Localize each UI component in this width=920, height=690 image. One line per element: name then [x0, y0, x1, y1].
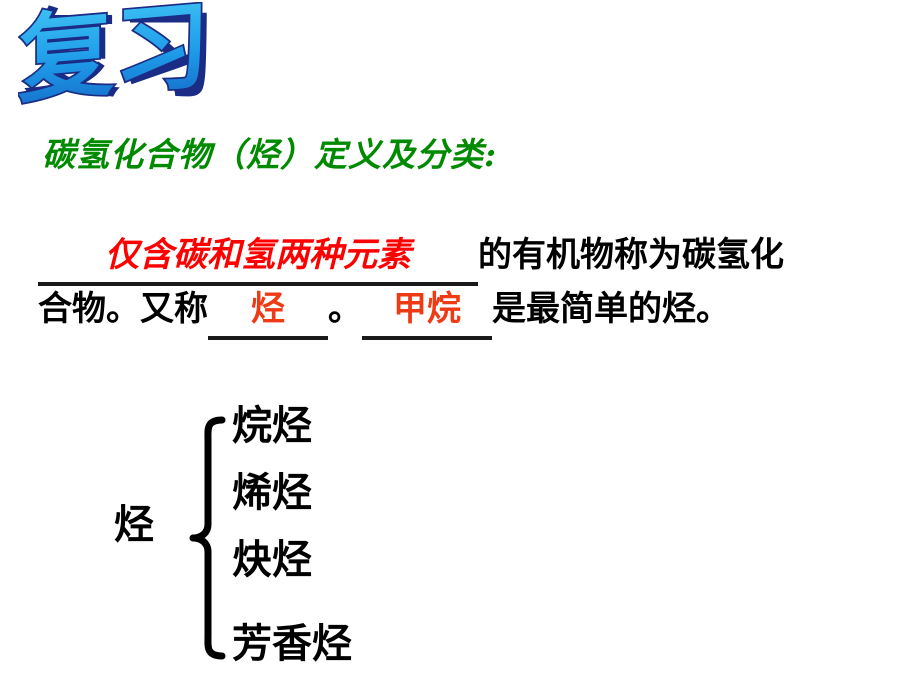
blank-answer-methane[interactable]: 甲烷: [362, 282, 492, 340]
definition-line-2: 合物。又称烃。甲烷是最简单的烃。: [38, 282, 914, 336]
wordart-svg: 复习 复习: [18, 2, 238, 110]
wordart-main-layer: 复习: [18, 2, 210, 110]
definition-line2-middle: 。: [328, 289, 362, 329]
blank-answer-alias-ting[interactable]: 烃: [208, 282, 328, 340]
definition-line-1: 仅含碳和氢两种元素的有机物称为碳氢化: [38, 228, 914, 282]
wordart-title-fuxi: 复习 复习: [18, 2, 238, 110]
classification-item-alkyne: 炔烃: [232, 534, 442, 601]
section-heading: 碳氢化合物（烃）定义及分类:: [42, 128, 497, 176]
classification-item-alkene: 烯烃: [232, 467, 442, 534]
classification-diagram: 烃 烷烃 烯烃 炔烃 芳香烃: [100, 392, 440, 674]
classification-item-aromatic: 芳香烃: [232, 601, 442, 685]
classification-item-alkane: 烷烃: [232, 392, 442, 467]
definition-line2-lead: 合物。又称: [38, 289, 208, 329]
classification-item-list: 烷烃 烯烃 炔烃 芳香烃: [232, 392, 442, 685]
blank-answer-hydrocarbon-definition[interactable]: 仅含碳和氢两种元素: [38, 228, 478, 286]
classification-root-label: 烃: [114, 492, 154, 550]
slide-canvas: 复习 复习 碳氢化合物（烃）定义及分类: 仅含碳和氢两种元素的有机物称为碳氢化 …: [0, 0, 920, 690]
definition-line1-tail: 的有机物称为碳氢化: [478, 235, 784, 275]
definition-paragraph: 仅含碳和氢两种元素的有机物称为碳氢化 合物。又称烃。甲烷是最简单的烃。: [38, 228, 914, 336]
left-curly-brace-icon: [188, 414, 230, 662]
definition-line2-tail: 是最简单的烃。: [492, 289, 730, 329]
